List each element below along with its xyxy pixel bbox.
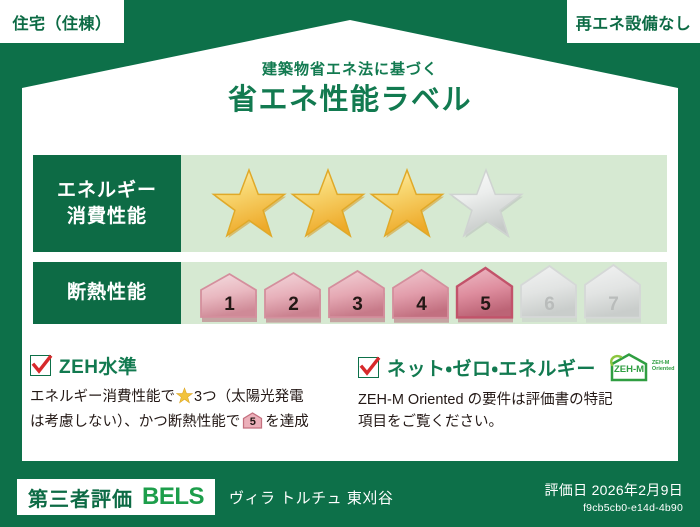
inline-level-badge-number: 5	[242, 417, 263, 428]
energy-label-line1: エネルギー	[57, 178, 157, 204]
star-filled-icon	[290, 167, 366, 241]
zeh-m-sub-line2: Oriented	[652, 367, 675, 373]
energy-performance-body	[181, 155, 667, 252]
insulation-level-achieved: 2	[263, 271, 324, 324]
zeh-m-logo: ZEH-M ZEH-M Oriented	[608, 352, 675, 382]
energy-label-line2: 消費性能	[67, 204, 147, 230]
evaluation-info: 評価日 2026年2月9日 f9cb5cb0-e14d-4b90	[544, 480, 683, 514]
bels-badge: 第三者評価 BELS	[17, 479, 215, 515]
insulation-level-achieved: 5	[455, 266, 516, 323]
evaluation-id: f9cb5cb0-e14d-4b90	[544, 502, 683, 514]
title-subtitle: 建築物省エネ法に基づく	[0, 62, 700, 79]
page-title: 建築物省エネ法に基づく 省エネ性能ラベル	[0, 62, 700, 118]
insulation-level-number: 2	[263, 295, 324, 314]
insulation-level-number: 4	[391, 295, 452, 314]
insulation-performance-body: 1234567	[181, 262, 667, 324]
energy-performance-row: エネルギー 消費性能	[33, 155, 667, 252]
tag-renewable-energy-label: 再エネ設備なし	[576, 10, 692, 34]
insulation-level-inactive: 6	[519, 264, 580, 323]
insulation-level-scale: 1234567	[199, 263, 644, 324]
star-filled-icon	[369, 167, 445, 241]
zeh-desc-stars: 3つ（太陽光発電	[194, 389, 304, 405]
evaluation-date-label: 評価日	[544, 482, 587, 498]
zeh-desc-part3: を達成	[265, 414, 309, 430]
zeh-title: ZEH水準	[59, 352, 138, 379]
energy-performance-label: エネルギー 消費性能	[33, 155, 181, 252]
bels-japanese-label: 第三者評価	[28, 483, 133, 512]
star-empty-icon	[448, 167, 524, 241]
star-filled-icon	[211, 167, 287, 241]
insulation-level-inactive: 7	[583, 263, 644, 324]
insulation-level-achieved: 4	[391, 268, 452, 324]
inline-level-badge: 5	[242, 412, 263, 429]
svg-text:ZEH-M: ZEH-M	[614, 364, 644, 375]
checkbox-checked-icon	[30, 355, 51, 376]
insulation-level-number: 3	[327, 295, 388, 314]
insulation-label-text: 断熱性能	[67, 280, 147, 306]
zeh-standard-section: ZEH水準 エネルギー消費性能で3つ（太陽光発電 は考慮しない）、かつ断熱性能で…	[30, 352, 350, 434]
tag-building-type: 住宅（住棟）	[0, 0, 124, 43]
footer-bar: 第三者評価 BELS ヴィラ トルチュ 東刈谷 評価日 2026年2月9日 f9…	[0, 467, 700, 527]
nzeb-heading: ネット・ゼロ・エネルギー ZEH-M ZEH-M Oriented	[358, 352, 678, 382]
insulation-level-achieved: 1	[199, 272, 260, 323]
insulation-performance-label: 断熱性能	[33, 262, 181, 324]
checkbox-checked-icon	[358, 357, 379, 378]
insulation-level-number: 6	[519, 295, 580, 314]
nzeb-description: ZEH-M Oriented の要件は評価書の特記 項目をご覧ください。	[358, 389, 678, 434]
zeh-desc-part2: は考慮しない）、かつ断熱性能で	[30, 414, 240, 430]
nzeb-desc-line2: 項目をご覧ください。	[358, 414, 503, 430]
insulation-level-number: 7	[583, 295, 644, 314]
star-rating	[211, 167, 524, 241]
insulation-level-number: 5	[455, 295, 516, 314]
zeh-heading: ZEH水準	[30, 352, 350, 379]
property-name: ヴィラ トルチュ 東刈谷	[229, 487, 393, 508]
evaluation-date-value: 2026年2月9日	[592, 482, 683, 498]
tag-renewable-energy: 再エネ設備なし	[567, 0, 700, 43]
tag-building-type-label: 住宅（住棟）	[12, 10, 111, 34]
nzeb-title: ネット・ゼロ・エネルギー	[387, 354, 596, 381]
evaluation-date: 評価日 2026年2月9日	[544, 480, 683, 500]
net-zero-energy-section: ネット・ゼロ・エネルギー ZEH-M ZEH-M Oriented ZEH-M …	[358, 352, 678, 434]
insulation-performance-row: 断熱性能 1234567	[33, 262, 667, 324]
zeh-desc-part1: エネルギー消費性能で	[30, 389, 175, 405]
zeh-description: エネルギー消費性能で3つ（太陽光発電 は考慮しない）、かつ断熱性能で5を達成	[30, 386, 350, 434]
nzeb-desc-line1: ZEH-M Oriented の要件は評価書の特記	[358, 392, 613, 408]
title-main: 省エネ性能ラベル	[0, 82, 700, 118]
insulation-level-achieved: 3	[327, 269, 388, 323]
insulation-level-number: 1	[199, 295, 260, 314]
inline-star-icon	[176, 387, 193, 411]
bels-logo-text: BELS	[142, 483, 204, 511]
energy-label-card: 住宅（住棟） 再エネ設備なし 建築物省エネ法に基づく 省エネ性能ラベル エネルギ…	[0, 0, 700, 527]
